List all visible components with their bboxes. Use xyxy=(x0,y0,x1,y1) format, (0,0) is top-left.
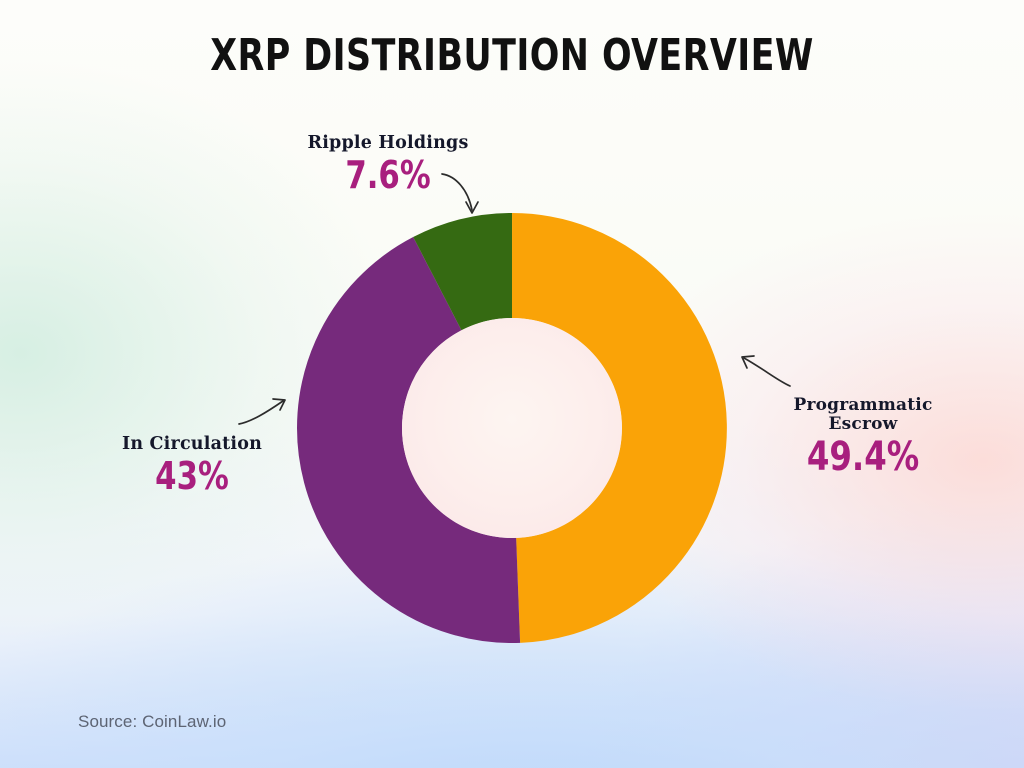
arrow-to-ripple-holdings-icon xyxy=(440,168,496,222)
slice-ripple-holdings[interactable] xyxy=(437,266,512,284)
donut-chart-svg xyxy=(297,213,727,643)
donut-chart xyxy=(297,213,727,643)
callout-programmatic-escrow-value: 49.4% xyxy=(750,436,977,478)
donut-center-hole xyxy=(402,318,622,538)
callout-programmatic-escrow-label: Programmatic Escrow xyxy=(737,396,989,434)
infographic-canvas: XRP Distribution Overview xyxy=(0,0,1024,768)
arrow-to-in-circulation-icon xyxy=(237,396,291,430)
callout-ripple-holdings-label: Ripple Holdings xyxy=(243,134,533,154)
callout-programmatic-escrow: Programmatic Escrow 49.4% xyxy=(737,396,989,478)
source-attribution: Source: CoinLaw.io xyxy=(78,712,226,732)
page-title: XRP Distribution Overview xyxy=(61,30,962,81)
callout-in-circulation-label: In Circulation xyxy=(53,435,331,455)
arrow-to-programmatic-escrow-icon xyxy=(740,352,792,392)
callout-in-circulation-value: 43% xyxy=(67,457,317,497)
callout-in-circulation: In Circulation 43% xyxy=(53,435,331,496)
